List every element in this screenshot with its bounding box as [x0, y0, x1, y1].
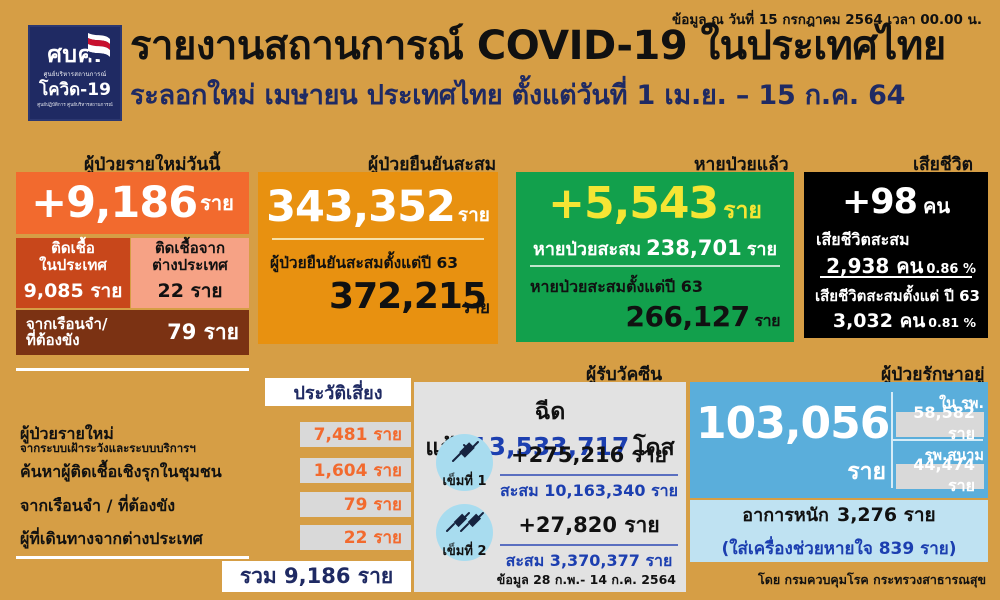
credit-text: โดย กรมควบคุมโรค กระทรวงสาธารณสุข	[758, 570, 986, 590]
recovered-divider	[530, 265, 780, 267]
confirmed-since-unit: ราย	[258, 294, 490, 321]
dose-1-row: +275,216 ราย สะสม 10,163,340 ราย	[500, 439, 678, 504]
risk-item-3-label: ผู้ที่เดินทางจากต่างประเทศ	[20, 527, 203, 552]
deaths-card: +98คน เสียชีวิตสะสม 2,938 คน0.86 % เสียช…	[804, 172, 988, 338]
dose-1-badge: เข็มที่ 1	[436, 434, 493, 491]
syringe-icon	[448, 440, 482, 466]
risk-history-header-label: ประวัติเสี่ยง	[293, 378, 382, 407]
logo-subtitle-2: ศูนย์ปฏิบัติการ ศูนย์บริหารสถานการณ์	[37, 102, 113, 109]
recovered-since-value: 266,127	[626, 300, 750, 333]
new-cases-value-card: +9,186 ราย	[16, 172, 249, 234]
vaccination-panel: ฉีดแล้ว13,533,717โดส เข็มที่ 1 +275,216 …	[414, 382, 686, 592]
risk-item-3-value: 22 ราย	[300, 525, 411, 550]
severe-cases-box: อาการหนัก3,276 ราย (ใส่เครื่องช่วยหายใจ …	[690, 500, 988, 562]
treating-card: 103,056 ราย ใน รพ. 58,582 ราย รพ.สนาม 44…	[690, 382, 988, 498]
new-cases-value: +9,186	[31, 182, 197, 225]
risk-item-1-value: 1,604 ราย	[300, 458, 411, 483]
imported-label-line1: ติดเชื้อจาก	[152, 240, 228, 256]
vaccination-footnote: ข้อมูล 28 ก.พ.- 14 ก.ค. 2564	[414, 570, 676, 590]
risk-history-header: ประวัติเสี่ยง	[265, 378, 411, 406]
page-header: ศบค. ศูนย์บริหารสถานการณ์ โควิด-19 ศูนย์…	[0, 0, 1000, 140]
risk-item-2-value: 79 ราย	[300, 492, 411, 517]
risk-item-0-sublabel: จากระบบเฝ้าระวังและระบบบริการฯ	[20, 440, 196, 458]
deaths-value: +98	[842, 182, 917, 222]
dose-1-caption: เข็มที่ 1	[442, 475, 486, 488]
treating-value: 103,056	[696, 398, 886, 449]
severe-label: อาการหนัก	[742, 505, 829, 526]
recovered-unit: ราย	[723, 198, 762, 224]
risk-item-1-label: ค้นหาผู้ติดเชื้อเชิงรุกในชุมชน	[20, 460, 222, 485]
dose-1-new: +275,216 ราย	[500, 439, 678, 476]
dose-1-cum: สะสม 10,163,340 ราย	[500, 479, 678, 504]
confirmed-cumulative-card: 343,352ราย ผู้ป่วยยืนยันสะสมตั้งแต่ปี 63…	[258, 172, 498, 344]
domestic-label-line2: ในประเทศ	[39, 257, 107, 273]
page-subtitle: ระลอกใหม่ เมษายน ประเทศไทย ตั้งแต่วันที่…	[130, 82, 905, 109]
dose-2-new: +27,820 ราย	[500, 509, 678, 546]
logo-subtitle-1: ศูนย์บริหารสถานการณ์	[44, 69, 107, 79]
confirmed-unit: ราย	[458, 204, 490, 226]
prison-label-line2: ที่ต้องขัง	[26, 333, 107, 349]
deaths-since-value: 3,032 คน	[833, 310, 925, 332]
double-syringe-icon	[445, 510, 485, 536]
risk-total-box: รวม 9,186 ราย	[222, 561, 411, 592]
sbk-logo: ศบค. ศูนย์บริหารสถานการณ์ โควิด-19 ศูนย์…	[28, 25, 122, 121]
dose-2-caption: เข็มที่ 2	[442, 545, 486, 558]
severe-value: 3,276 ราย	[837, 504, 936, 526]
prison-cases-value: 79 ราย	[167, 316, 239, 349]
domestic-cases-value: 9,085 ราย	[24, 276, 123, 306]
deaths-cum-percent: 0.86 %	[926, 262, 976, 277]
treating-hospital-value: 58,582 ราย	[896, 412, 984, 437]
deaths-divider	[820, 276, 972, 278]
deaths-cum-value: 2,938 คน	[826, 254, 923, 278]
page-title: รายงานสถานการณ์ COVID-19 ในประเทศไทย	[130, 26, 946, 66]
risk-total-value: รวม 9,186 ราย	[240, 560, 393, 593]
prison-cases-box: จากเรือนจำ/ ที่ต้องขัง 79 ราย	[16, 310, 249, 355]
recovered-cum-label: หายป่วยสะสม	[533, 239, 641, 260]
recovered-cum-unit: ราย	[747, 239, 777, 260]
recovered-card: +5,543ราย หายป่วยสะสม238,701ราย หายป่วยส…	[516, 172, 794, 342]
confirmed-since-label: ผู้ป่วยยืนยันสะสมตั้งแต่ปี 63	[270, 250, 458, 275]
recovered-cum-value: 238,701	[646, 236, 742, 260]
deaths-since-label: เสียชีวิตสะสมตั้งแต่ ปี 63	[804, 284, 980, 308]
imported-cases-value: 22 ราย	[157, 276, 222, 306]
risk-divider-bottom	[16, 556, 249, 559]
recovered-since-unit: ราย	[755, 311, 780, 330]
risk-divider-top	[16, 368, 249, 371]
dose-2-row: +27,820 ราย สะสม 3,370,377 ราย	[500, 509, 678, 574]
imported-cases-box: ติดเชื้อจาก ต่างประเทศ 22 ราย	[131, 238, 249, 308]
domestic-cases-box: ติดเชื้อ ในประเทศ 9,085 ราย	[16, 238, 130, 308]
dose-2-badge: เข็มที่ 2	[436, 504, 493, 561]
logo-covid-text: โควิด-19	[39, 82, 111, 99]
thai-flag-ribbon-icon	[86, 31, 112, 65]
risk-item-2-label: จากเรือนจำ / ที่ต้องขัง	[20, 494, 175, 519]
confirmed-divider	[272, 238, 484, 240]
ventilator-value: (ใส่เครื่องช่วยหายใจ 839 ราย)	[721, 535, 956, 562]
recovered-value: +5,543	[548, 178, 718, 229]
domestic-label-line1: ติดเชื้อ	[39, 240, 107, 256]
imported-label-line2: ต่างประเทศ	[152, 257, 228, 273]
confirmed-value: 343,352	[266, 182, 455, 232]
recovered-since-label: หายป่วยสะสมตั้งแต่ปี 63	[530, 275, 703, 300]
risk-item-0-value: 7,481 ราย	[300, 422, 411, 447]
treating-field-value: 44,474 ราย	[896, 464, 984, 489]
deaths-unit: คน	[923, 194, 950, 218]
treating-unit: ราย	[696, 454, 886, 490]
new-cases-unit: ราย	[200, 187, 234, 219]
deaths-since-percent: 0.81 %	[928, 315, 976, 330]
